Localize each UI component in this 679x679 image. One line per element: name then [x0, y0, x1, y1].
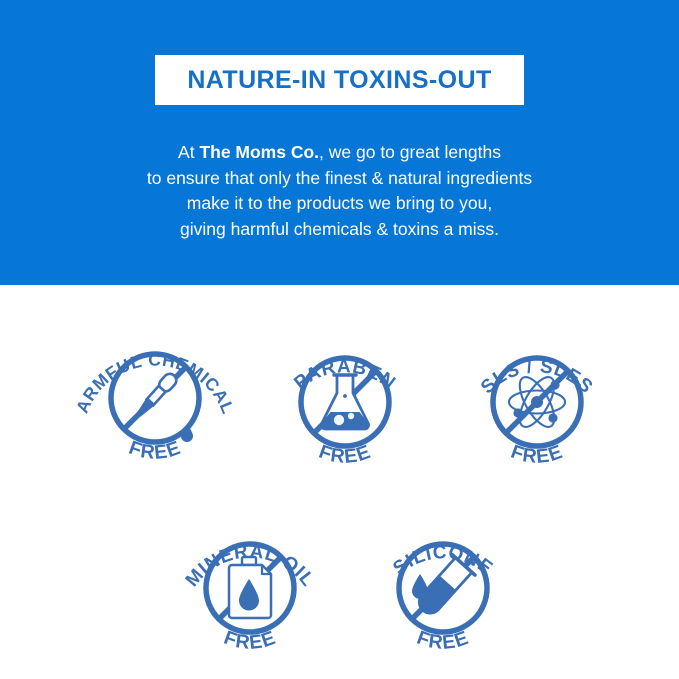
badge-arc-text: SLS / SLES — [477, 356, 597, 398]
hero-line-2: to ensure that only the finest & natural… — [0, 166, 679, 192]
hero-line-1: At The Moms Co., we go to great lengths — [0, 140, 679, 166]
badge-grid: HARMFUL CHEMICALS FREE — [0, 285, 679, 679]
hero-line-3: make it to the products we bring to you, — [0, 191, 679, 217]
brand-name: The Moms Co. — [199, 142, 319, 162]
page-title: NATURE-IN TOXINS-OUT — [187, 68, 491, 93]
title-box: NATURE-IN TOXINS-OUT — [155, 55, 524, 105]
badge-paraben-free: PARABEN FREE — [260, 317, 430, 487]
hero-banner: NATURE-IN TOXINS-OUT At The Moms Co., we… — [0, 0, 679, 285]
hero-description: At The Moms Co., we go to great lengths … — [0, 140, 679, 242]
hero-line-1-prefix: At — [178, 142, 199, 162]
badge-silicone-free: SILICONE FREE — [358, 503, 528, 673]
hero-line-4: giving harmful chemicals & toxins a miss… — [0, 217, 679, 243]
badge-sls-sles-free: SLS / SLES FREE — [452, 317, 622, 487]
badge-mineral-oil-free: MINERAL OIL FREE — [165, 503, 335, 673]
badge-harmful-chemicals-free: HARMFUL CHEMICALS FREE — [70, 313, 240, 483]
promo-graphic: NATURE-IN TOXINS-OUT At The Moms Co., we… — [0, 0, 679, 679]
hero-line-1-suffix: , we go to great lengths — [319, 142, 501, 162]
svg-text:SLS / SLES: SLS / SLES — [477, 356, 597, 398]
